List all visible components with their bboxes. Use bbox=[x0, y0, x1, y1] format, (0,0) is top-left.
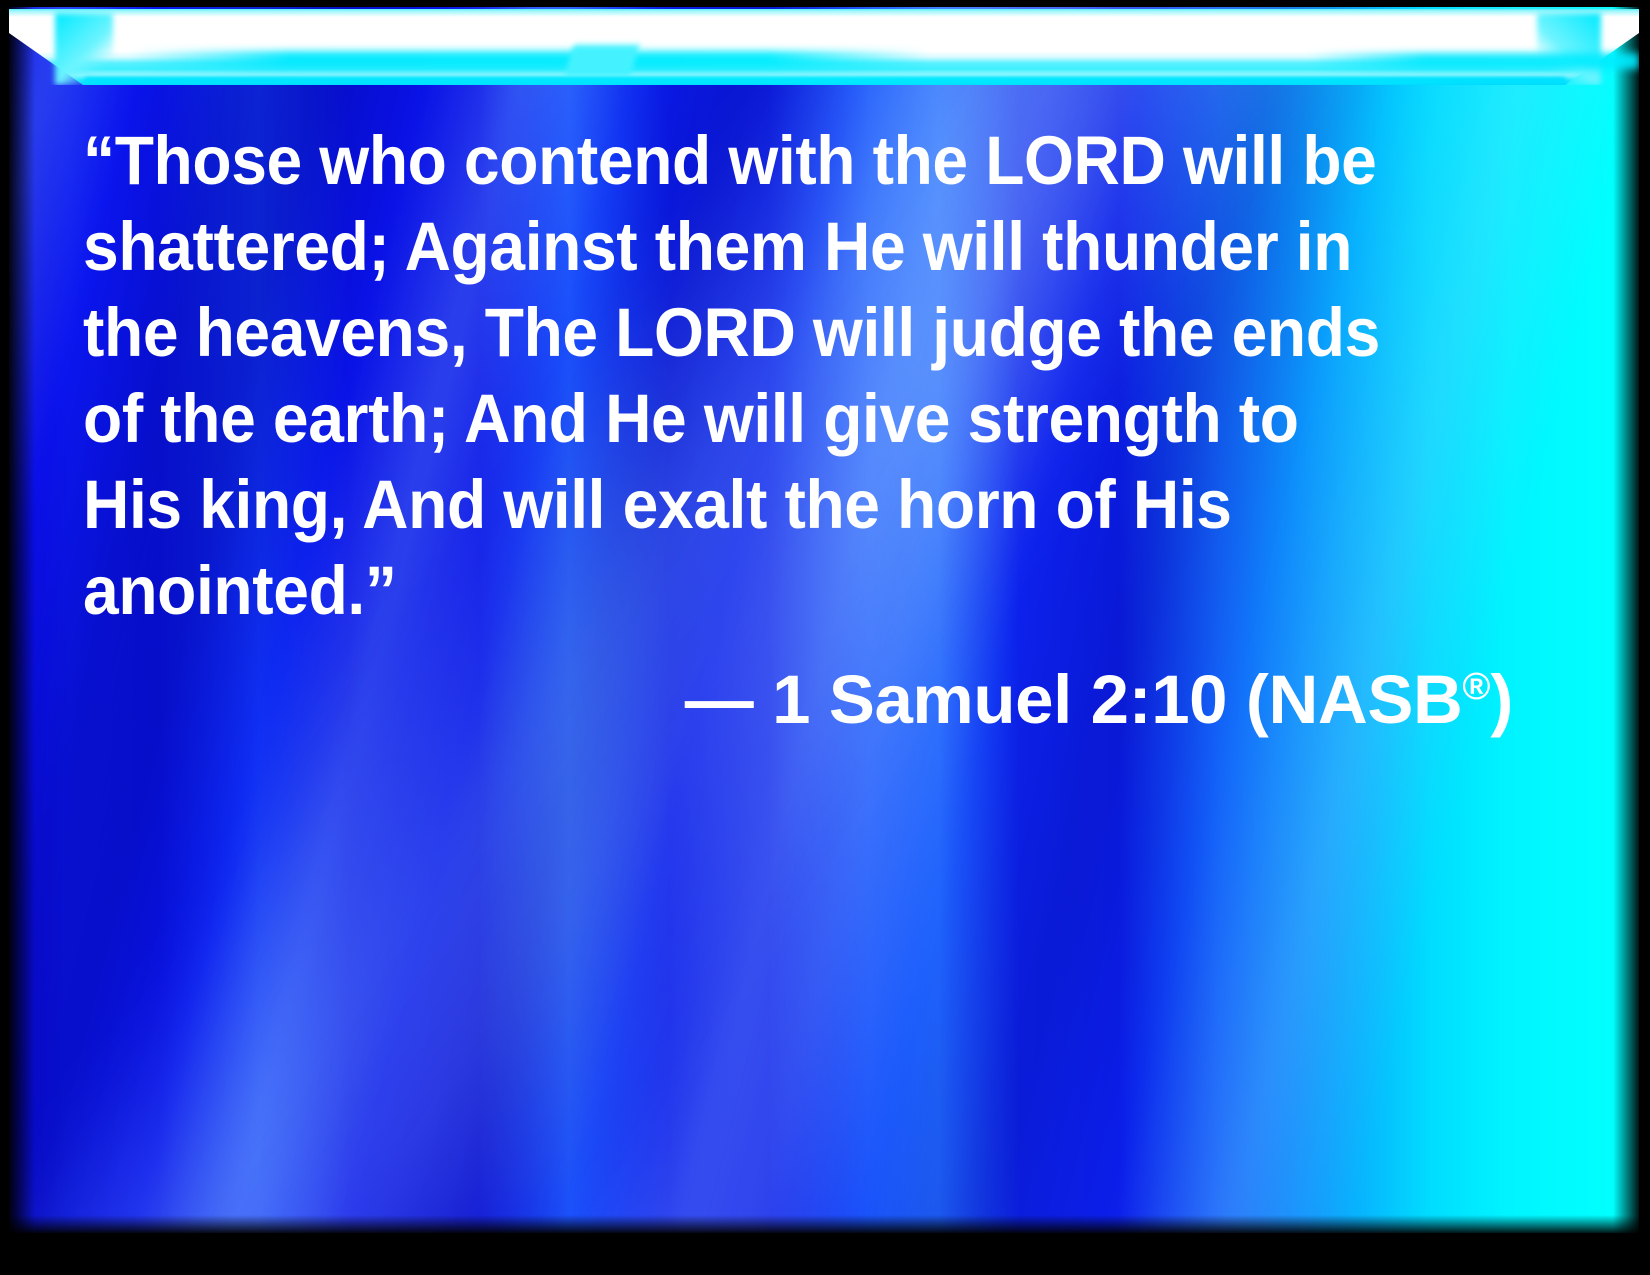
banner-white-band bbox=[9, 7, 1639, 85]
banner-cyan-wisp-right bbox=[1309, 53, 1639, 69]
banner-corner-right-bevel bbox=[1537, 13, 1601, 85]
verse-body-text: “Those who contend with the LORD will be… bbox=[83, 118, 1413, 634]
attribution-close-paren: ) bbox=[1490, 661, 1513, 738]
banner-cyan-wisp-center bbox=[565, 45, 640, 75]
banner-corner-left-bevel bbox=[55, 13, 113, 85]
attribution-main: — 1 Samuel 2:10 (NASB bbox=[685, 661, 1463, 738]
banner-cyan-underline bbox=[85, 77, 1565, 85]
banner-cyan-wisp-left bbox=[129, 51, 929, 69]
verse-attribution: — 1 Samuel 2:10 (NASB®) bbox=[83, 634, 1513, 743]
top-banner bbox=[9, 7, 1639, 85]
registered-trademark-icon: ® bbox=[1462, 666, 1490, 708]
verse-slide: “Those who contend with the LORD will be… bbox=[0, 0, 1650, 1275]
verse-content: “Those who contend with the LORD will be… bbox=[83, 118, 1513, 743]
